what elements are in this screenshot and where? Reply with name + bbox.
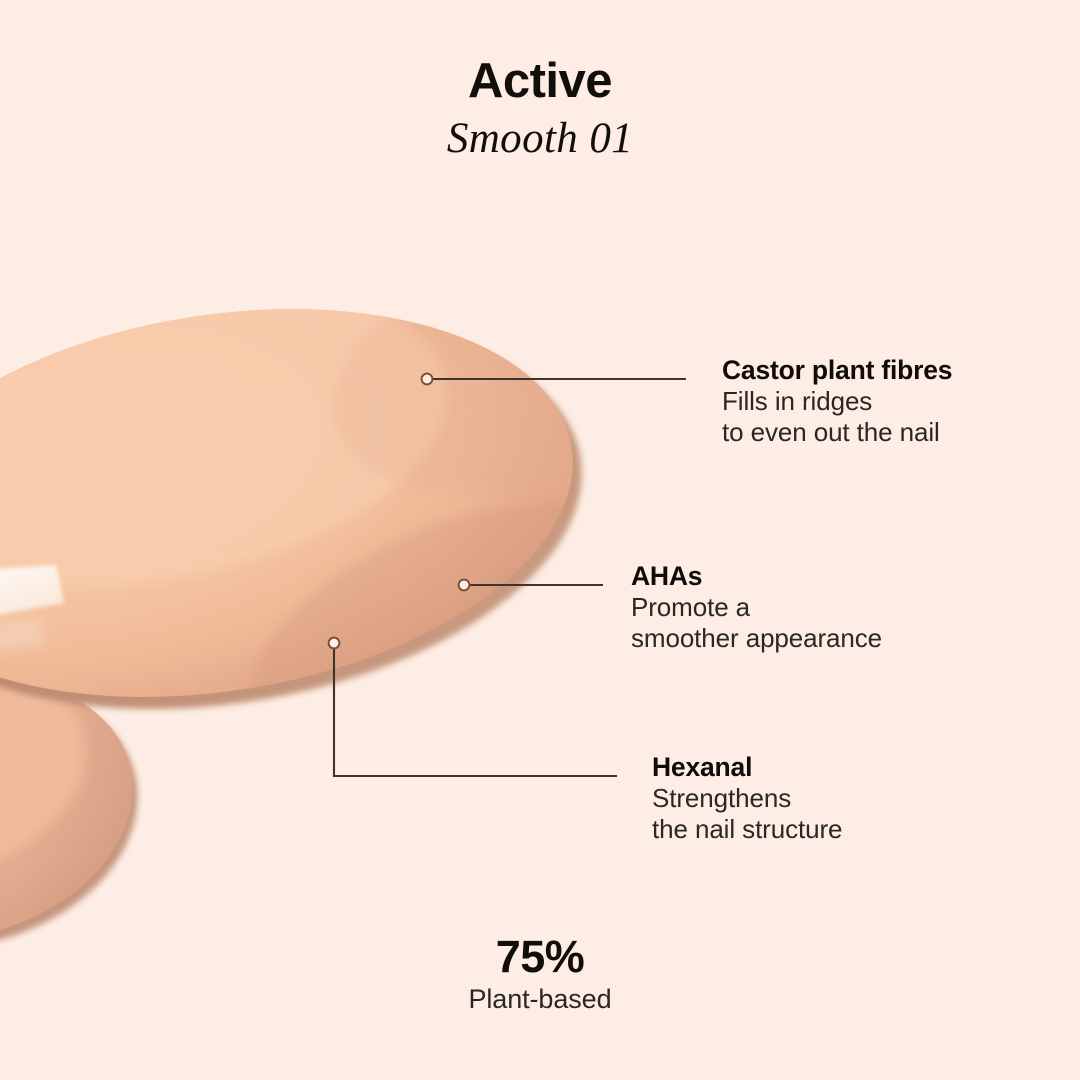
leader-line-hexanal xyxy=(329,638,616,776)
leader-marker-dot xyxy=(422,374,433,385)
page-title: Active Smooth 01 xyxy=(0,52,1080,166)
annotation-title: Hexanal xyxy=(652,752,842,783)
annotation-ahas: AHAs Promote a smoother appearance xyxy=(631,561,882,654)
annotation-body-line: the nail structure xyxy=(652,814,842,845)
gloss-highlight xyxy=(0,565,64,625)
annotation-hexanal: Hexanal Strengthens the nail structure xyxy=(652,752,842,845)
leader-line-ahas xyxy=(459,580,603,591)
annotation-body-line: to even out the nail xyxy=(722,417,952,448)
leader-marker-dot xyxy=(459,580,470,591)
annotation-body-line: Fills in ridges xyxy=(722,386,952,417)
leader-line-castor-plant-fibres xyxy=(422,374,686,385)
title-subtitle: Smooth 01 xyxy=(0,112,1080,166)
annotation-body-line: Promote a xyxy=(631,592,882,623)
droplet-main xyxy=(0,233,729,832)
plant-based-stat: 75% Plant-based xyxy=(0,932,1080,1016)
annotation-body-line: Strengthens xyxy=(652,783,842,814)
stat-value: 75% xyxy=(0,932,1080,982)
stat-label: Plant-based xyxy=(0,983,1080,1016)
annotation-title: Castor plant fibres xyxy=(722,355,952,386)
title-main: Active xyxy=(0,52,1080,110)
leader-marker-dot xyxy=(329,638,340,649)
poster-canvas: Active Smooth 01 Castor plant fibres Fil… xyxy=(0,0,1080,1080)
annotation-castor-plant-fibres: Castor plant fibres Fills in ridges to e… xyxy=(722,355,952,448)
annotation-title: AHAs xyxy=(631,561,882,592)
annotation-body-line: smoother appearance xyxy=(631,623,882,654)
